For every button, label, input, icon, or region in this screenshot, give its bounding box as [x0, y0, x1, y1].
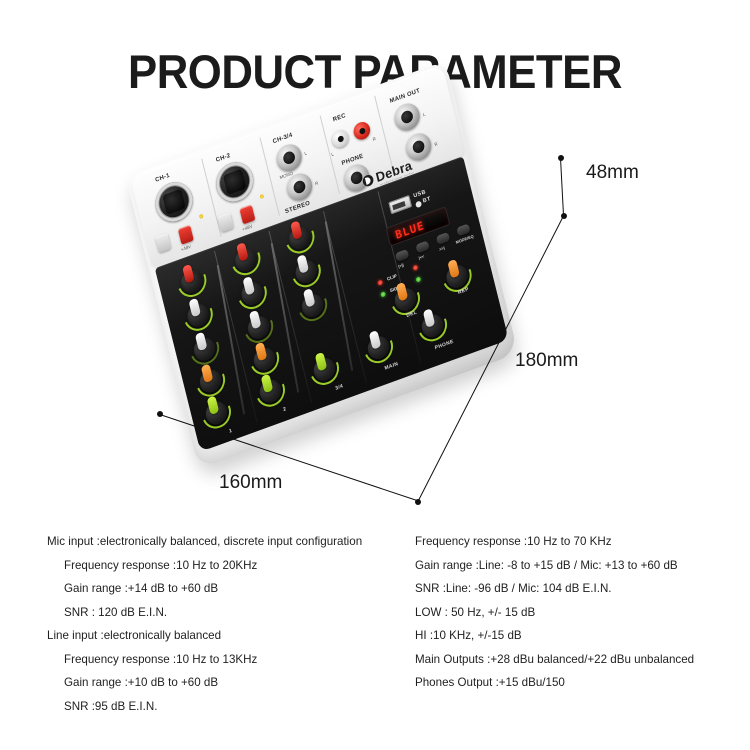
label-right-ch34: R [315, 180, 319, 186]
knob-gain-ch2[interactable] [233, 245, 259, 274]
spec-line: SNR : 120 dB E.I.N. [47, 601, 412, 625]
spec-line: SNR :95 dB E.I.N. [47, 695, 412, 719]
channel-label-1: 1 [229, 428, 233, 435]
audio-mixer-product-image: CH-1 +48V CH-2 +48V CH-3/4 L R MON [126, 61, 518, 470]
knob-level-ch1[interactable] [203, 399, 229, 428]
spec-line: Gain range :+14 dB to +60 dB [47, 577, 412, 601]
usb-port[interactable] [388, 195, 412, 214]
label-left-rec: L [331, 151, 335, 157]
clip-label: CLIP [386, 273, 397, 281]
knob-gain-ch34[interactable] [287, 223, 313, 252]
spec-column-left: Mic input :electronically balanced, disc… [47, 530, 412, 718]
main-out-jack-left[interactable] [392, 100, 423, 134]
spec-line: Frequency response :10 Hz to 13KHz [47, 648, 412, 672]
spec-line: Frequency response :10 Hz to 20KHz [47, 554, 412, 578]
rca-jack-rec-left[interactable] [330, 127, 350, 149]
label-phantom-ch1: +48V [180, 244, 191, 253]
bluetooth-icon [415, 200, 422, 208]
knob-mid-ch1[interactable] [192, 335, 218, 364]
pad-switch-ch2[interactable] [218, 212, 234, 232]
label-left-ch34: L [304, 150, 308, 156]
spec-line: Frequency response :10 Hz to 70 KHz [415, 530, 745, 554]
label-left-main: L [422, 112, 426, 118]
knob-gain-ch1[interactable] [179, 267, 205, 296]
led-display-text: BLUE [394, 218, 426, 241]
label-ch1: CH-1 [155, 173, 171, 184]
spec-line: Line input :electronically balanced [47, 624, 412, 648]
clip-led-right [412, 264, 418, 271]
knob-level-ch2[interactable] [257, 377, 283, 406]
spec-line: HI :10 KHz, +/-15 dB [415, 624, 745, 648]
spec-line: Phones Output :+15 dBu/150 [415, 671, 745, 695]
next-track-label: >>| [438, 245, 445, 252]
knob-low-ch1[interactable] [198, 367, 224, 396]
specifications: Mic input :electronically balanced, disc… [0, 530, 750, 730]
rca-jack-rec-right[interactable] [352, 120, 372, 142]
pad-switch-ch1[interactable] [155, 233, 171, 253]
clip-led-left [377, 279, 383, 286]
knob-mid-ch2[interactable] [246, 313, 272, 342]
knob-phone-level[interactable] [419, 311, 445, 340]
knob-low-ch2[interactable] [252, 345, 278, 374]
label-rec: REC [332, 113, 346, 123]
channel-label-main: MAIN [384, 361, 399, 372]
play-pause-button[interactable] [395, 249, 409, 262]
spec-line: LOW : 50 Hz, +/- 15 dB [415, 601, 745, 625]
label-right-main: R [434, 141, 438, 147]
product-photo: CH-1 +48V CH-2 +48V CH-3/4 L R MON [0, 110, 750, 520]
sig-led-right [415, 276, 421, 283]
previous-track-label: |<< [418, 254, 425, 261]
dim-width-dot-right [415, 499, 421, 505]
label-main-out: MAIN OUT [389, 88, 421, 105]
label-ch2: CH-2 [215, 153, 231, 164]
knob-mid-ch34[interactable] [300, 291, 326, 320]
phantom-led-ch1 [199, 214, 204, 219]
dim-depth-label: 180mm [515, 350, 578, 372]
trs-jack-ch34-left[interactable] [274, 141, 305, 175]
spec-line: Gain range :+10 dB to +60 dB [47, 671, 412, 695]
spec-line: Mic input :electronically balanced, disc… [47, 530, 412, 554]
dim-height-line [560, 158, 564, 217]
label-right-rec: R [372, 136, 376, 142]
product-parameter-page: PRODUCT PARAMETER CH-1 +48V CH-2 [0, 0, 750, 750]
knob-level-ch34[interactable] [311, 355, 337, 384]
phantom-switch-ch1[interactable] [178, 225, 194, 245]
xlr-jack-ch2[interactable] [212, 157, 257, 207]
next-track-button[interactable] [436, 232, 450, 245]
label-phantom-ch2: +48V [242, 223, 253, 232]
channel-label-phone: PHONE [434, 339, 454, 352]
channel-label-2: 2 [283, 406, 287, 413]
phantom-switch-ch2[interactable] [239, 204, 255, 224]
xlr-jack-ch1[interactable] [152, 177, 197, 227]
spec-line: SNR :Line: -96 dB / Mic: 104 dB E.I.N. [415, 577, 745, 601]
dim-height-label: 48mm [586, 162, 639, 184]
spec-column-right: Frequency response :10 Hz to 70 KHzGain … [415, 530, 745, 695]
previous-track-button[interactable] [415, 240, 429, 253]
dim-width-label: 160mm [219, 472, 282, 494]
knob-main-level[interactable] [365, 333, 391, 362]
knob-high-ch1[interactable] [185, 301, 211, 330]
sig-led-left [380, 291, 386, 298]
phantom-led-ch2 [259, 194, 264, 199]
channel-label-34: 3/4 [335, 383, 344, 392]
play-pause-label: |>|| [398, 262, 405, 269]
spec-line: Gain range :Line: -8 to +15 dB / Mic: +1… [415, 554, 745, 578]
knob-high-ch2[interactable] [239, 279, 265, 308]
bt-label: BT [422, 196, 431, 205]
knob-high-ch34[interactable] [293, 257, 319, 286]
spec-line: Main Outputs :+28 dBu balanced/+22 dBu u… [415, 648, 745, 672]
